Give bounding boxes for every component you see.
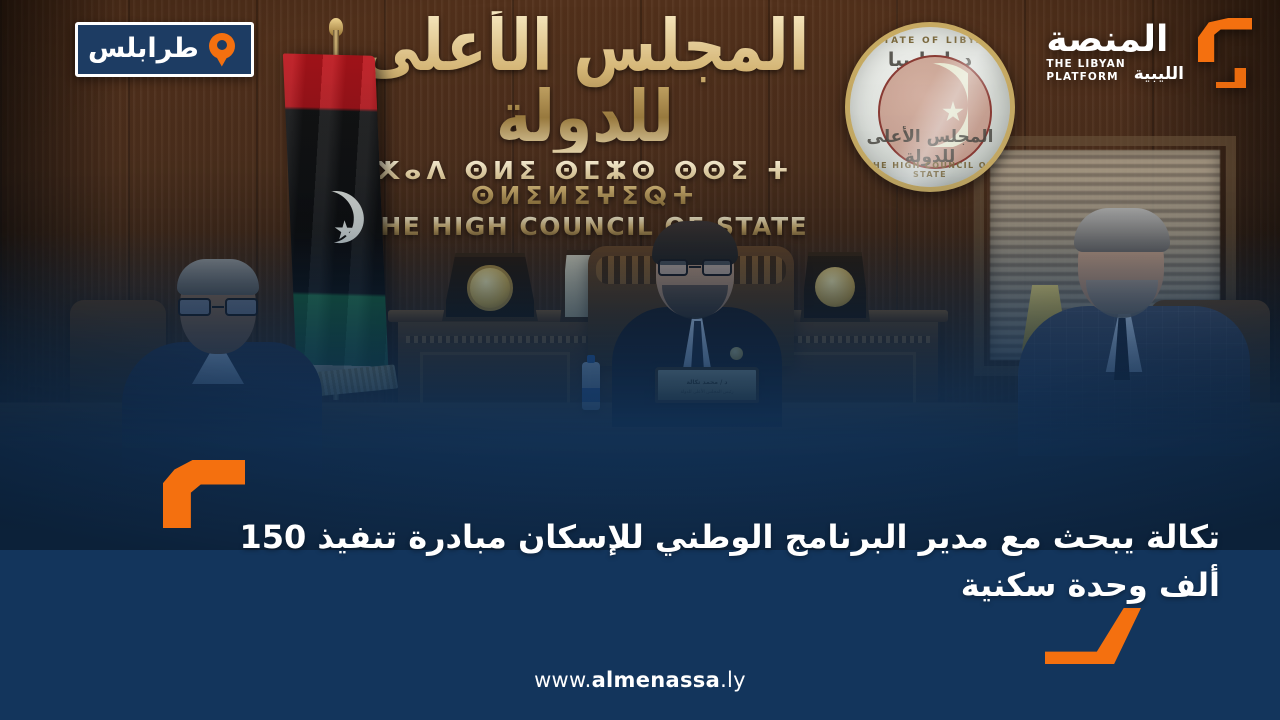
map-pin-icon (209, 33, 235, 67)
logo-arabic-primary: المنصة (1046, 23, 1168, 57)
person-right (1018, 214, 1250, 454)
location-badge[interactable]: طرابلس (75, 22, 254, 77)
wall-sign-tifinagh: ⵅⴰⴷ ⵙⵍⵉ ⵙⵎⵣⵙ ⵙⵙⵉ ⵜ ⵙⵍⵉⵍⵉⵖⵉⵕⵜ (345, 158, 825, 208)
eyeglasses-icon (658, 259, 732, 276)
person-right-hair (1074, 208, 1170, 252)
wall-sign-arabic: المجلس الأعلى للدولة (345, 11, 825, 153)
award-plaque (800, 252, 870, 322)
person-right-suit (1018, 306, 1250, 456)
website-prefix: www. (534, 668, 591, 692)
person-left (122, 262, 322, 492)
award-plaque (442, 253, 538, 321)
desk-nameplate: د / محمد تكالة رئيس المجلس الأعلى للدولة (655, 367, 759, 403)
nameplate-title: رئيس المجلس الأعلى للدولة (658, 390, 756, 395)
emblem-glass-glare (850, 27, 1010, 187)
location-badge-label: طرابلس (88, 35, 199, 65)
logo-english-line1: THE LIBYAN (1046, 58, 1125, 70)
credenza-panel (420, 352, 570, 408)
lapel-pin-icon (730, 347, 743, 360)
eyeglasses-icon (178, 298, 258, 316)
website-tld: .ly (720, 668, 746, 692)
bracket-mark-icon (1194, 18, 1256, 88)
bottle-label (582, 388, 600, 402)
news-card: المجلس الأعلى للدولة ⵅⴰⴷ ⵙⵍⵉ ⵙⵎⵣⵙ ⵙⵙⵉ ⵜ … (0, 0, 1280, 720)
orange-bracket-right-icon (1045, 608, 1141, 664)
nameplate-name: د / محمد تكالة (658, 379, 756, 386)
medal-icon (815, 267, 855, 307)
logo-english-line2: PLATFORM (1046, 71, 1118, 83)
website-name: almenassa (592, 668, 721, 692)
logo-arabic-secondary: الليبية (1134, 66, 1184, 83)
person-left-hair (177, 259, 259, 295)
brand-logo[interactable]: المنصة الليبية THE LIBYAN PLATFORM (1046, 18, 1256, 88)
website-url[interactable]: www.almenassa.ly (0, 668, 1280, 692)
logo-wordmark: المنصة الليبية THE LIBYAN PLATFORM (1046, 23, 1184, 83)
wall-signage: المجلس الأعلى للدولة ⵅⴰⴷ ⵙⵍⵉ ⵙⵎⵣⵙ ⵙⵙⵉ ⵜ … (345, 22, 825, 239)
state-emblem: STATE OF LIBYA دولة ليبيا المجلس الأعلى … (845, 22, 1015, 192)
water-bottle (582, 362, 600, 410)
medal-icon (467, 265, 513, 311)
